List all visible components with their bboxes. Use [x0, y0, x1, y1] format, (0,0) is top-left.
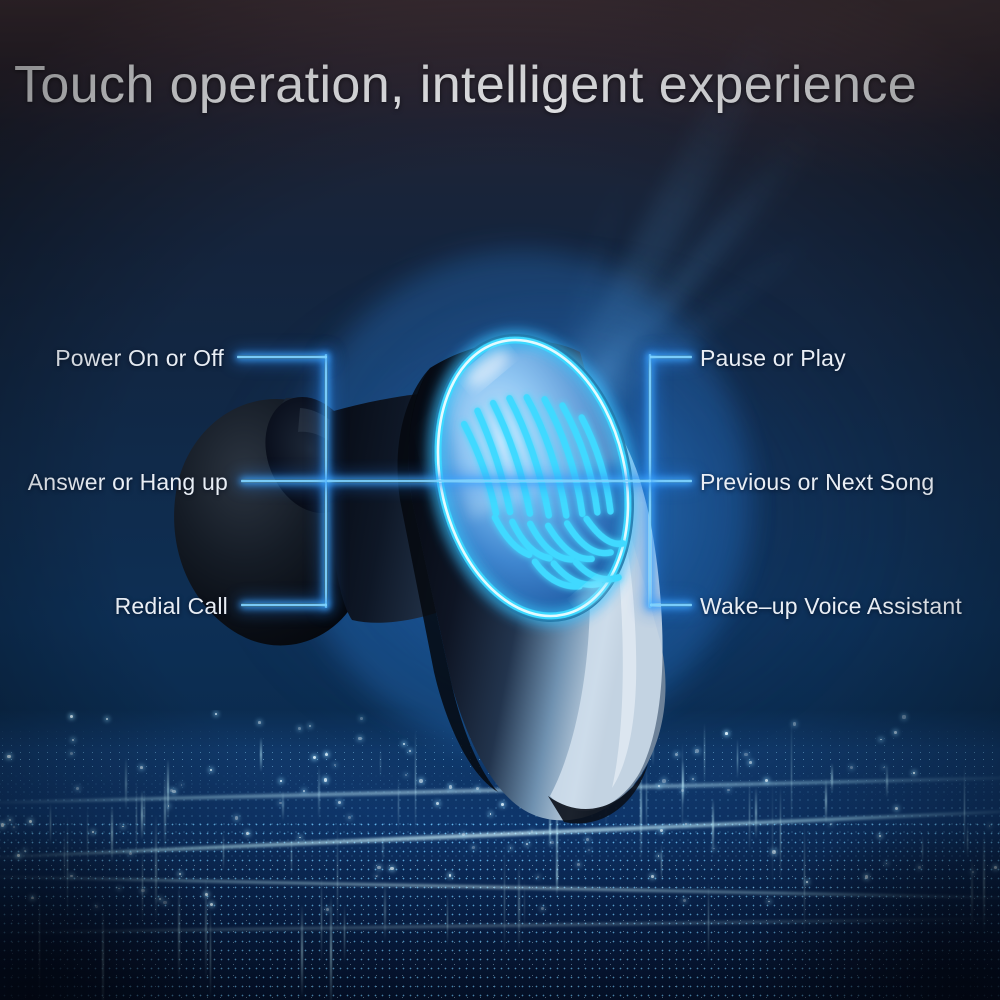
particle-spark-icon	[95, 905, 98, 908]
particle-spark-icon	[9, 819, 11, 821]
particle-spark-icon	[744, 753, 748, 757]
light-streak-icon	[605, 742, 607, 829]
particle-spark-icon	[725, 732, 728, 735]
particle-spark-icon	[405, 774, 407, 776]
particle-spark-icon	[170, 789, 173, 792]
particle-spark-icon	[70, 715, 73, 718]
light-streak-icon	[447, 893, 449, 946]
particle-spark-icon	[118, 888, 120, 890]
callout-line-assistant	[650, 603, 692, 607]
particle-spark-icon	[179, 873, 181, 875]
particle-spark-icon	[554, 715, 557, 718]
light-streak-icon	[318, 765, 320, 820]
particle-spark-icon	[749, 761, 752, 764]
particle-spark-icon	[596, 735, 599, 738]
light-streak-icon	[125, 757, 127, 810]
light-streak-icon	[652, 733, 654, 766]
particle-spark-icon	[531, 830, 534, 833]
particle-spark-icon	[793, 722, 797, 726]
light-streak-icon	[640, 758, 642, 864]
particle-spark-icon	[141, 889, 145, 893]
particle-spark-icon	[31, 897, 34, 900]
particle-spark-icon	[462, 833, 465, 836]
light-streak-icon	[983, 832, 985, 933]
particle-spark-icon	[727, 789, 730, 792]
particle-spark-icon	[526, 843, 528, 845]
light-streak-icon	[260, 737, 262, 772]
particle-spark-icon	[643, 750, 645, 752]
particle-spark-icon	[879, 835, 881, 837]
particle-spark-icon	[850, 766, 853, 769]
particle-spark-icon	[658, 785, 660, 787]
particle-spark-icon	[313, 756, 316, 759]
particle-spark-icon	[918, 866, 921, 869]
light-streak-icon	[167, 759, 169, 819]
particle-spark-icon	[122, 826, 124, 828]
light-streak-icon	[111, 805, 113, 863]
particle-spark-icon	[326, 908, 329, 911]
particle-spark-icon	[472, 846, 475, 849]
light-streak-icon	[712, 798, 714, 855]
light-streak-icon	[886, 765, 888, 798]
light-streak-icon	[398, 777, 400, 832]
particle-spark-icon	[586, 838, 589, 841]
particle-spark-icon	[541, 907, 544, 910]
page-title: Touch operation, intelligent experience	[14, 55, 917, 115]
particle-spark-icon	[449, 874, 452, 877]
light-streak-icon	[223, 832, 225, 870]
light-streak-icon	[384, 881, 386, 941]
particle-spark-icon	[675, 753, 678, 756]
particle-spark-icon	[129, 852, 132, 855]
particle-spark-icon	[883, 767, 885, 769]
particle-spark-icon	[499, 738, 501, 740]
light-streak-icon	[382, 835, 384, 862]
callout-label-previous-or-next-song[interactable]: Previous or Next Song	[700, 469, 934, 496]
callout-line-answer	[241, 479, 327, 483]
particle-spark-icon	[913, 772, 915, 774]
particle-spark-icon	[534, 749, 536, 751]
light-streak-icon	[141, 790, 143, 840]
particle-spark-icon	[695, 749, 699, 753]
light-streak-icon	[87, 806, 89, 868]
light-streak-icon	[330, 894, 332, 1000]
particle-spark-icon	[490, 813, 492, 815]
callout-label-pause-or-play[interactable]: Pause or Play	[700, 345, 846, 372]
particle-spark-icon	[476, 787, 479, 790]
particle-spark-icon	[765, 779, 768, 782]
particle-spark-icon	[577, 863, 580, 866]
particle-spark-icon	[168, 805, 170, 807]
particle-spark-icon	[72, 739, 74, 741]
light-streak-icon	[205, 875, 207, 982]
particle-spark-icon	[299, 837, 301, 839]
particle-spark-icon	[660, 829, 663, 832]
particle-spark-icon	[334, 764, 336, 766]
light-streak-icon	[282, 790, 284, 821]
light-streak-icon	[524, 879, 526, 932]
particle-spark-icon	[13, 826, 15, 828]
particle-spark-icon	[303, 790, 305, 792]
light-streak-icon	[291, 838, 293, 874]
light-streak-icon	[682, 761, 684, 805]
light-streak-icon	[967, 823, 969, 858]
light-streak-icon	[518, 861, 520, 951]
particle-spark-icon	[895, 807, 898, 810]
particle-spark-icon	[163, 901, 167, 905]
light-streak-icon	[646, 765, 648, 835]
vertical-light-streaks	[0, 710, 1000, 1000]
particle-spark-icon	[894, 731, 897, 734]
particle-spark-icon	[500, 754, 503, 757]
light-streak-icon	[415, 729, 417, 831]
particle-spark-icon	[324, 778, 328, 782]
callout-line-pause	[650, 355, 692, 359]
particle-spark-icon	[972, 871, 974, 873]
light-streak-icon	[164, 771, 166, 852]
light-streak-icon	[971, 855, 973, 931]
callout-label-wake-up-voice-assistant[interactable]: Wake–up Voice Assistant	[700, 593, 962, 620]
particle-spark-icon	[235, 816, 239, 820]
particle-spark-icon	[550, 841, 553, 844]
light-streak-icon	[178, 884, 180, 982]
particle-spark-icon	[589, 758, 591, 760]
particle-spark-icon	[360, 717, 363, 720]
light-streak-icon	[50, 803, 52, 845]
particle-spark-icon	[210, 903, 213, 906]
particle-spark-icon	[140, 766, 143, 769]
light-streak-icon	[136, 781, 138, 859]
light-streak-icon	[380, 748, 382, 779]
particle-spark-icon	[772, 850, 776, 854]
particle-spark-icon	[806, 881, 808, 883]
particle-spark-icon	[309, 725, 312, 728]
light-streak-icon	[67, 815, 69, 917]
particle-spark-icon	[358, 737, 361, 740]
particle-spark-icon	[92, 831, 94, 833]
light-streak-icon	[39, 893, 41, 1000]
particle-spark-icon	[348, 816, 351, 819]
particle-spark-icon	[377, 866, 380, 869]
particle-spark-icon	[449, 785, 452, 788]
particle-spark-icon	[989, 825, 991, 827]
particle-spark-icon	[662, 779, 666, 783]
callout-label-redial-call[interactable]: Redial Call	[115, 593, 228, 620]
light-streak-icon	[321, 875, 323, 963]
light-streak-icon	[964, 766, 966, 855]
light-streak-icon	[64, 832, 66, 882]
light-streak-icon	[155, 814, 157, 923]
particle-spark-icon	[181, 784, 183, 786]
light-streak-icon	[210, 908, 212, 999]
light-streak-icon	[301, 904, 303, 999]
particle-spark-icon	[215, 713, 217, 715]
particle-spark-icon	[246, 832, 249, 835]
light-streak-icon	[804, 823, 806, 935]
callout-label-answer-or-hang-up[interactable]: Answer or Hang up	[28, 469, 228, 496]
light-streak-icon	[144, 789, 146, 836]
particle-spark-icon	[325, 753, 328, 756]
particle-spark-icon	[70, 875, 72, 877]
light-streak-icon	[704, 723, 706, 785]
callout-line-redial	[241, 603, 327, 607]
light-streak-icon	[540, 733, 542, 808]
light-streak-icon	[791, 720, 793, 832]
callout-label-power-on-or-off[interactable]: Power On or Off	[55, 345, 224, 372]
light-streak-icon	[749, 778, 751, 854]
digital-particle-terrain	[0, 710, 1000, 1000]
particle-spark-icon	[419, 779, 423, 783]
callout-line-power	[237, 355, 327, 359]
particle-spark-icon	[70, 752, 73, 755]
callout-line-track	[650, 479, 692, 483]
particle-spark-icon	[681, 789, 684, 792]
particle-spark-icon	[880, 739, 882, 741]
light-streak-icon	[825, 778, 827, 824]
light-streak-icon	[780, 786, 782, 883]
light-streak-icon	[661, 844, 663, 882]
particle-spark-icon	[76, 787, 79, 790]
light-streak-icon	[504, 846, 506, 955]
particle-spark-icon	[504, 772, 506, 774]
particle-spark-icon	[403, 743, 405, 745]
particle-spark-icon	[994, 866, 997, 869]
particle-spark-icon	[159, 898, 161, 900]
particle-spark-icon	[338, 801, 342, 805]
particle-spark-icon	[713, 848, 715, 850]
particle-spark-icon	[902, 715, 905, 718]
product-feature-banner: Touch operation, intelligent experience …	[0, 0, 1000, 1000]
particle-spark-icon	[510, 847, 512, 849]
particle-spark-icon	[830, 823, 832, 825]
particle-spark-icon	[390, 867, 393, 870]
particle-spark-icon	[651, 875, 654, 878]
particle-spark-icon	[501, 803, 504, 806]
particle-spark-icon	[692, 778, 694, 780]
particle-spark-icon	[588, 849, 590, 851]
light-streak-icon	[922, 835, 924, 864]
particle-spark-icon	[865, 875, 869, 879]
particle-spark-icon	[17, 854, 20, 857]
light-streak-icon	[344, 904, 346, 964]
light-streak-icon	[737, 739, 739, 779]
particle-spark-icon	[24, 850, 26, 852]
particle-spark-icon	[409, 750, 411, 752]
particle-spark-icon	[29, 820, 32, 823]
particle-spark-icon	[280, 780, 282, 782]
light-streak-icon	[831, 763, 833, 793]
particle-spark-icon	[205, 893, 208, 896]
light-streak-icon	[337, 822, 339, 934]
particle-spark-icon	[685, 823, 687, 825]
particle-spark-icon	[298, 727, 301, 730]
particle-spark-icon	[658, 855, 660, 857]
light-streak-icon	[755, 787, 757, 839]
particle-spark-icon	[489, 758, 491, 760]
light-streak-icon	[708, 882, 710, 958]
particle-spark-icon	[210, 769, 212, 771]
particle-spark-icon	[537, 876, 539, 878]
particle-spark-icon	[106, 718, 108, 720]
particle-spark-icon	[525, 791, 528, 794]
particle-spark-icon	[1, 823, 4, 826]
light-streak-icon	[142, 849, 144, 924]
particle-spark-icon	[886, 863, 888, 865]
light-streak-icon	[772, 777, 774, 892]
light-streak-icon	[102, 907, 104, 1000]
particle-spark-icon	[7, 755, 11, 759]
callout-line-through-device	[327, 479, 651, 483]
particle-spark-icon	[375, 875, 378, 878]
particle-spark-icon	[258, 721, 261, 724]
light-streak-icon	[556, 854, 558, 896]
particle-spark-icon	[768, 901, 770, 903]
particle-spark-icon	[683, 899, 686, 902]
particle-spark-icon	[436, 802, 439, 805]
